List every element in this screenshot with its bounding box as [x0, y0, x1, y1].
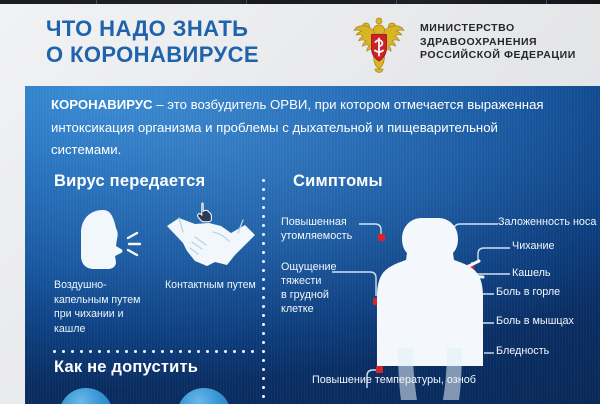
symptom-label-chest-heaviness: Ощущение тяжести в грудной клетке: [281, 260, 337, 316]
symptom-label-pallor: Бледность: [496, 344, 549, 358]
head-sneezing-icon: [72, 208, 146, 272]
symptom-label-muscle-pain: Боль в мышцах: [496, 314, 574, 328]
symptom-label-fever-chills: Повышение температуры, озноб: [312, 373, 476, 387]
ministry-line-1: МИНИСТЕРСТВО: [420, 22, 576, 36]
section-heading-prevention: Как не допустить: [54, 358, 198, 377]
pointing-hand-cursor: [196, 202, 213, 223]
caption-contact: Контактным путем: [165, 278, 260, 293]
ministry-line-3: РОССИЙСКОЙ ФЕДЕРАЦИИ: [420, 49, 576, 63]
symptom-label-fatigue: Повышенная утомляемость: [281, 215, 352, 243]
section-heading-transmission: Вирус передается: [54, 172, 205, 191]
page-title-line-2: О КОРОНАВИРУСЕ: [46, 42, 346, 68]
prevention-bubble-2: [177, 388, 231, 404]
caption-airborne: Воздушно- капельным путем при чихании и …: [54, 278, 154, 336]
lead-paragraph: КОРОНАВИРУС – это возбудитель ОРВИ, при …: [51, 94, 561, 162]
ministry-lockup: МИНИСТЕРСТВО ЗДРАВООХРАНЕНИЯ РОССИЙСКОЙ …: [346, 12, 586, 78]
ministry-name: МИНИСТЕРСТВО ЗДРАВООХРАНЕНИЯ РОССИЙСКОЙ …: [420, 22, 576, 63]
poster-background: ЧТО НАДО ЗНАТЬ О КОРОНАВИРУСЕ МИНИ: [0, 4, 600, 400]
page-title: ЧТО НАДО ЗНАТЬ О КОРОНАВИРУСЕ: [46, 16, 346, 68]
symptom-label-sore-throat: Боль в горле: [496, 285, 560, 299]
ministry-line-2: ЗДРАВООХРАНЕНИЯ: [420, 36, 576, 50]
page-title-line-1: ЧТО НАДО ЗНАТЬ: [46, 16, 346, 42]
russian-coat-of-arms-health-ministry-emblem: [346, 12, 412, 78]
horizontal-dotted-divider: [50, 350, 257, 353]
prevention-bubble-1: [59, 388, 113, 404]
symptom-label-nasal-congestion: Заложенность носа: [498, 215, 596, 229]
symptom-label-sneezing: Чихание: [512, 239, 555, 253]
section-heading-symptoms: Симптомы: [293, 172, 383, 191]
symptom-label-cough: Кашель: [512, 266, 551, 280]
info-panel: КОРОНАВИРУС – это возбудитель ОРВИ, при …: [25, 86, 600, 404]
lead-keyword: КОРОНАВИРУС: [51, 97, 153, 112]
